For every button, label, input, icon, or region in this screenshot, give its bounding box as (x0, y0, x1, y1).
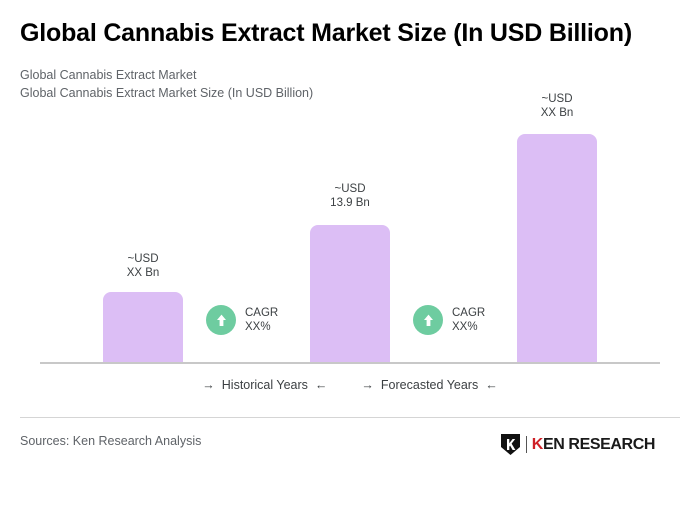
bar-value-label-3-line2: XX Bn (502, 106, 612, 120)
bar-value-label-3: ~USD XX Bn (502, 92, 612, 120)
arrow-left-icon: ← (315, 379, 328, 392)
arrow-up-icon (413, 305, 443, 335)
period-forecasted-label: Forecasted Years (381, 378, 478, 392)
bar-value-label-1-line2: XX Bn (88, 266, 198, 280)
footer-divider (20, 417, 680, 418)
arrow-left-icon: ← (485, 379, 498, 392)
cagr-label-forecast: CAGR (452, 306, 485, 320)
cagr-badge-historical: CAGR XX% (206, 305, 278, 335)
arrow-up-icon (206, 305, 236, 335)
bar-value-label-2-line2: 13.9 Bn (295, 196, 405, 210)
logo-divider (526, 436, 527, 453)
bar-value-label-1-line1: ~USD (88, 252, 198, 266)
arrow-right-icon: → (202, 379, 215, 392)
cagr-badge-forecast: CAGR XX% (413, 305, 485, 335)
bar-historical[interactable] (103, 292, 183, 363)
bar-value-label-1: ~USD XX Bn (88, 252, 198, 280)
bar-value-label-2: ~USD 13.9 Bn (295, 182, 405, 210)
cagr-text-historical: CAGR XX% (245, 306, 278, 334)
logo-wordmark: K EN RESEARCH (532, 436, 655, 454)
shield-logo-icon (500, 433, 521, 456)
chart-page: Global Cannabis Extract Market Size (In … (0, 0, 700, 520)
cagr-text-forecast: CAGR XX% (452, 306, 485, 334)
cagr-label-historical: CAGR (245, 306, 278, 320)
bar-base-year[interactable] (310, 225, 390, 363)
arrow-right-icon: → (361, 379, 374, 392)
bar-forecast[interactable] (517, 134, 597, 363)
period-forecasted: → Forecasted Years ← (361, 378, 497, 392)
sources-text: Sources: Ken Research Analysis (20, 434, 201, 448)
x-axis-line (40, 362, 660, 364)
period-historical-label: Historical Years (222, 378, 308, 392)
period-labels-row: → Historical Years ← → Forecasted Years … (40, 378, 660, 392)
period-historical: → Historical Years ← (202, 378, 327, 392)
cagr-value-forecast: XX% (452, 320, 485, 334)
ken-research-logo: K EN RESEARCH (500, 433, 655, 456)
logo-wordmark-rest: EN RESEARCH (543, 436, 655, 454)
logo-wordmark-k: K (532, 436, 543, 454)
bar-chart-plot: ~USD XX Bn ~USD 13.9 Bn ~USD XX Bn CAGR … (0, 0, 700, 400)
cagr-value-historical: XX% (245, 320, 278, 334)
bar-value-label-2-line1: ~USD (295, 182, 405, 196)
bar-value-label-3-line1: ~USD (502, 92, 612, 106)
